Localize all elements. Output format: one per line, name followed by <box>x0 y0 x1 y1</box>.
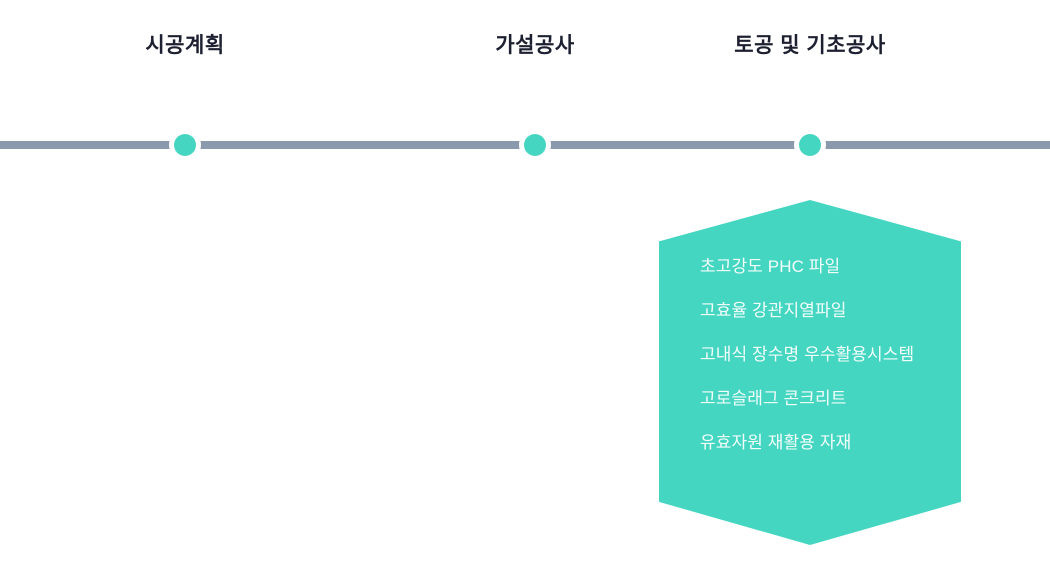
callout-item-list: 초고강도 PHC 파일 고효율 강관지열파일 고내식 장수명 우수활용시스템 고… <box>700 258 914 451</box>
milestone-dot-icon-3[interactable] <box>799 134 821 156</box>
milestone-label-1: 시공계획 <box>145 29 224 59</box>
hexagon-callout: 초고강도 PHC 파일 고효율 강관지열파일 고내식 장수명 우수활용시스템 고… <box>659 200 961 545</box>
list-item: 고효율 강관지열파일 <box>700 302 914 319</box>
milestone-label-3: 토공 및 기초공사 <box>734 29 885 59</box>
list-item: 초고강도 PHC 파일 <box>700 258 914 275</box>
milestone-label-2: 가설공사 <box>495 29 574 59</box>
list-item: 고로슬래그 콘크리트 <box>700 390 914 407</box>
diagram-canvas: 시공계획 가설공사 토공 및 기초공사 초고강도 PHC 파일 고효율 강관지열… <box>0 0 1050 585</box>
list-item: 유효자원 재활용 자재 <box>700 434 914 451</box>
list-item: 고내식 장수명 우수활용시스템 <box>700 346 914 363</box>
milestone-dot-icon-2[interactable] <box>524 134 546 156</box>
milestone-dot-icon-1[interactable] <box>174 134 196 156</box>
